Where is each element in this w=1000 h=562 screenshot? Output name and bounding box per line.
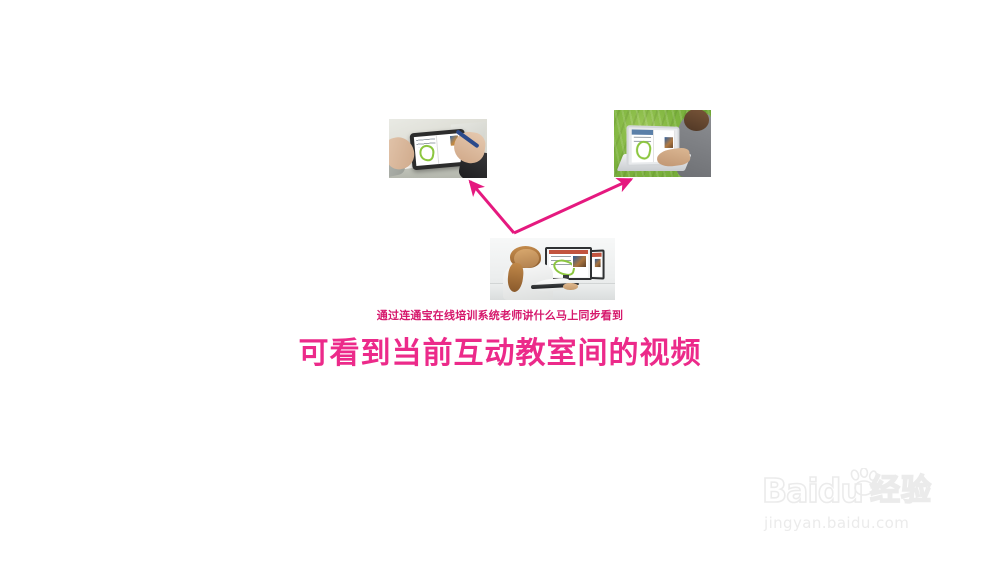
watermark-url-text: jingyan.baidu.com — [764, 514, 909, 532]
arrow-to-tablet-user — [470, 181, 514, 233]
teacher-hand — [563, 283, 578, 290]
laptop-screen-titlebar — [631, 130, 652, 135]
page-headline: 可看到当前互动教室间的视频 — [0, 328, 1000, 372]
photo-laptop-user — [614, 110, 711, 177]
watermark-suffix-text: 经验 — [870, 476, 932, 506]
teacher-secondary-video-thumbnail — [594, 257, 602, 268]
slide-canvas: 通过连通宝在线培训系统老师讲什么马上同步看到 可看到当前互动教室间的视频 Bai… — [0, 0, 1000, 562]
watermark-brand-bai: Bai — [762, 471, 818, 510]
subtitle-text: 通过连通宝在线培训系统老师讲什么马上同步看到 — [0, 307, 1000, 323]
teacher-primary-screen — [549, 250, 588, 277]
tablet-screen-left-pane — [413, 135, 439, 166]
photo-teacher-scene — [490, 238, 615, 300]
baidu-jingyan-watermark: Baidu 经验 jingyan.baidu.com — [762, 472, 942, 534]
arrow-to-laptop-user — [514, 179, 631, 233]
teacher-primary-video-thumbnail — [572, 255, 587, 267]
teacher-primary-titlebar — [549, 250, 588, 254]
photo-tablet-scene — [389, 119, 487, 178]
photo-teacher-workstation — [490, 238, 615, 300]
laptop-screen-left-pane — [631, 130, 653, 163]
tablet-diagram-doodle — [417, 144, 435, 163]
photo-laptop-scene — [614, 110, 711, 177]
laptop-video-thumbnail — [664, 136, 674, 149]
photo-tablet-user — [389, 119, 487, 178]
